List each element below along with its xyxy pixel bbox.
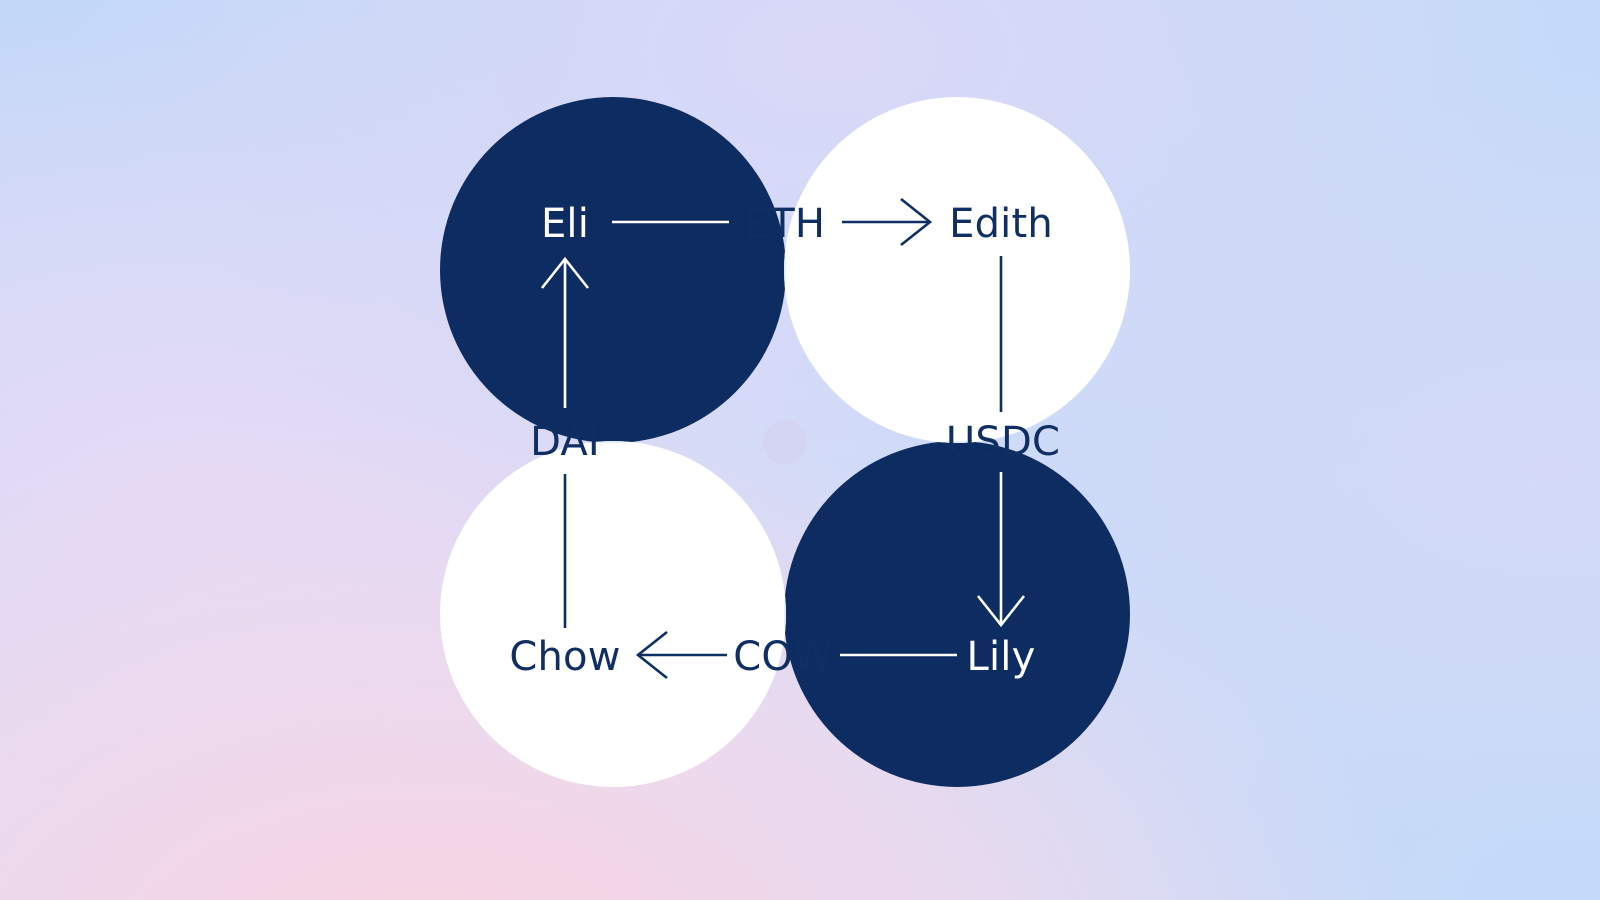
node-label-lily: Lily: [967, 634, 1036, 680]
node-label-cow: COW: [733, 634, 833, 680]
center-dot: [763, 420, 807, 464]
circle-bottom-left-white: [440, 441, 786, 787]
node-label-dai: DAI: [530, 419, 600, 465]
node-label-usdc: USDC: [946, 419, 1060, 465]
node-label-eth: ETH: [745, 201, 825, 247]
circle-top-left-navy: [440, 97, 786, 443]
node-label-edith: Edith: [949, 201, 1053, 247]
node-label-chow: Chow: [509, 634, 620, 680]
circle-bottom-right-navy: [784, 441, 1130, 787]
node-label-eli: Eli: [541, 201, 589, 247]
venn-circles-and-flow: Eli ETH Edith DAI USDC Chow COW Lily: [0, 0, 1600, 900]
circle-top-right-white: [784, 97, 1130, 443]
venn-diagram-canvas: Eli ETH Edith DAI USDC Chow COW Lily: [0, 0, 1600, 900]
